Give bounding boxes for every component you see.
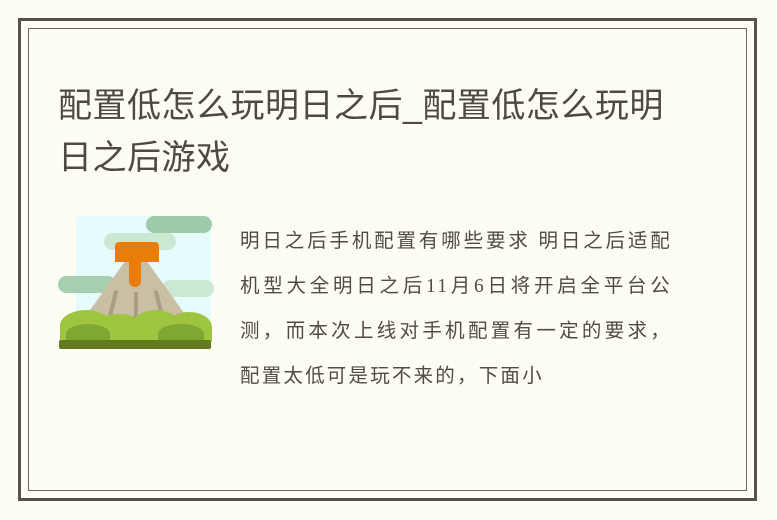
article-content-row: 明日之后手机配置有哪些要求 明日之后适配机型大全明日之后11月6日将开启全平台公… xyxy=(58,199,726,418)
volcano-illustration xyxy=(58,210,214,360)
article-card: 配置低怎么玩明日之后_配置低怎么玩明日之后游戏 明日之后手机配置有哪些要求 明日… xyxy=(18,18,757,501)
page-title: 配置低怎么玩明日之后_配置低怎么玩明日之后游戏 xyxy=(58,80,688,184)
cloud-icon xyxy=(146,216,212,233)
article-body-text: 明日之后手机配置有哪些要求 明日之后适配机型大全明日之后11月6日将开启全平台公… xyxy=(240,219,672,399)
lava-flow xyxy=(129,254,141,287)
ground-bar xyxy=(59,340,211,349)
